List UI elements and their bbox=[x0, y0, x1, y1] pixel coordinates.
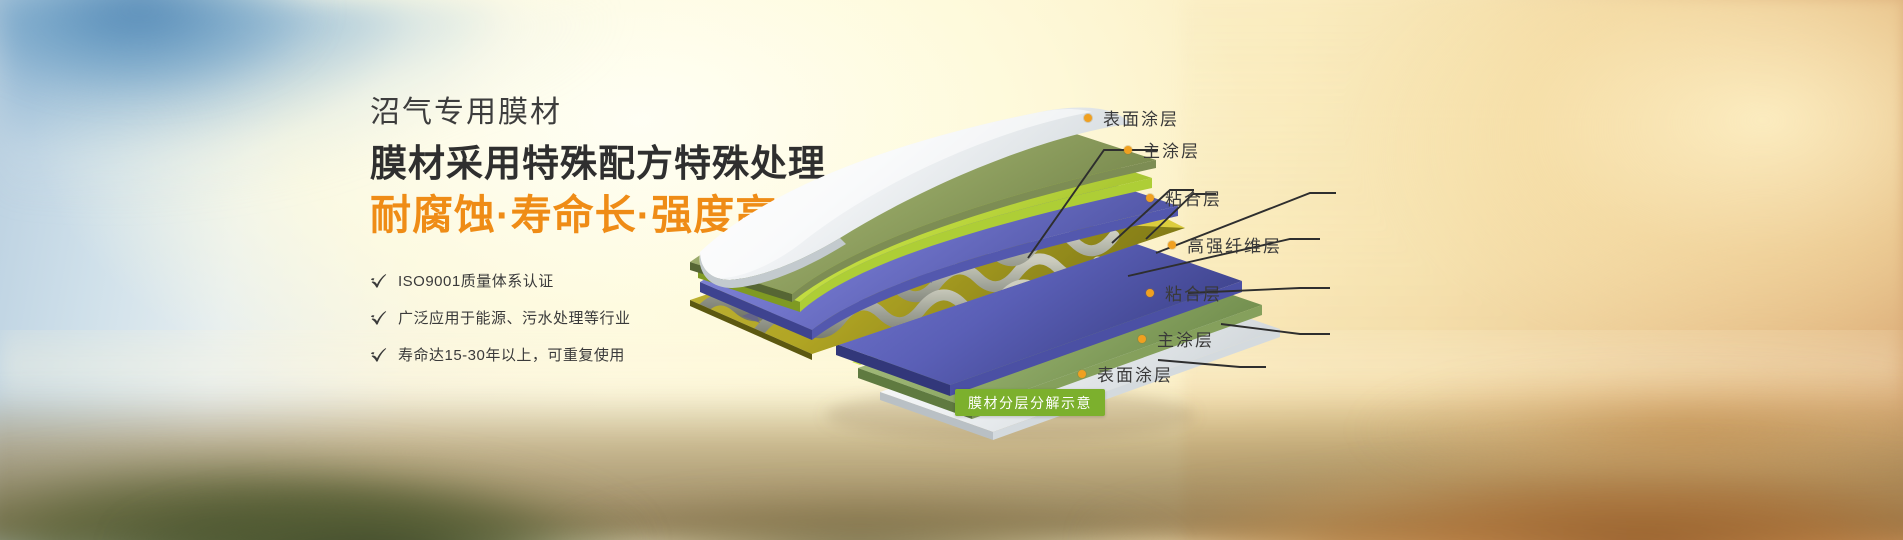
promo-banner: 沼气专用膜材 膜材采用特殊配方特殊处理 耐腐蚀·寿命长·强度高 ISO9001质… bbox=[0, 0, 1903, 540]
diagram-badge-label: 膜材分层分解示意 bbox=[968, 393, 1092, 413]
callout-dot-icon bbox=[1084, 114, 1092, 122]
callout-main-coating-top: 主涂层 bbox=[1124, 137, 1200, 162]
callout-main-coating-bottom: 主涂层 bbox=[1138, 326, 1214, 351]
callout-surface-coating-top: 表面涂层 bbox=[1084, 105, 1179, 130]
callout-adhesive-bottom: 粘合层 bbox=[1146, 280, 1222, 305]
callout-adhesive-top: 粘合层 bbox=[1146, 185, 1222, 210]
callout-label: 粘合层 bbox=[1165, 280, 1222, 305]
callout-label: 高强纤维层 bbox=[1187, 232, 1282, 257]
callout-label: 主涂层 bbox=[1143, 137, 1200, 162]
callout-label: 主涂层 bbox=[1157, 326, 1214, 351]
callout-fiber-layer: 高强纤维层 bbox=[1168, 232, 1282, 257]
callout-dot-icon bbox=[1078, 370, 1086, 378]
callout-dot-icon bbox=[1138, 335, 1146, 343]
membrane-layer-illustration bbox=[0, 0, 1903, 540]
callout-dot-icon bbox=[1168, 241, 1176, 249]
diagram-badge: 膜材分层分解示意 bbox=[955, 389, 1105, 416]
callout-label: 表面涂层 bbox=[1097, 361, 1173, 386]
callout-label: 表面涂层 bbox=[1103, 105, 1179, 130]
callout-label: 粘合层 bbox=[1165, 185, 1222, 210]
callout-dot-icon bbox=[1124, 146, 1132, 154]
callout-dot-icon bbox=[1146, 289, 1154, 297]
callout-surface-coating-bottom: 表面涂层 bbox=[1078, 361, 1173, 386]
callout-dot-icon bbox=[1146, 194, 1154, 202]
